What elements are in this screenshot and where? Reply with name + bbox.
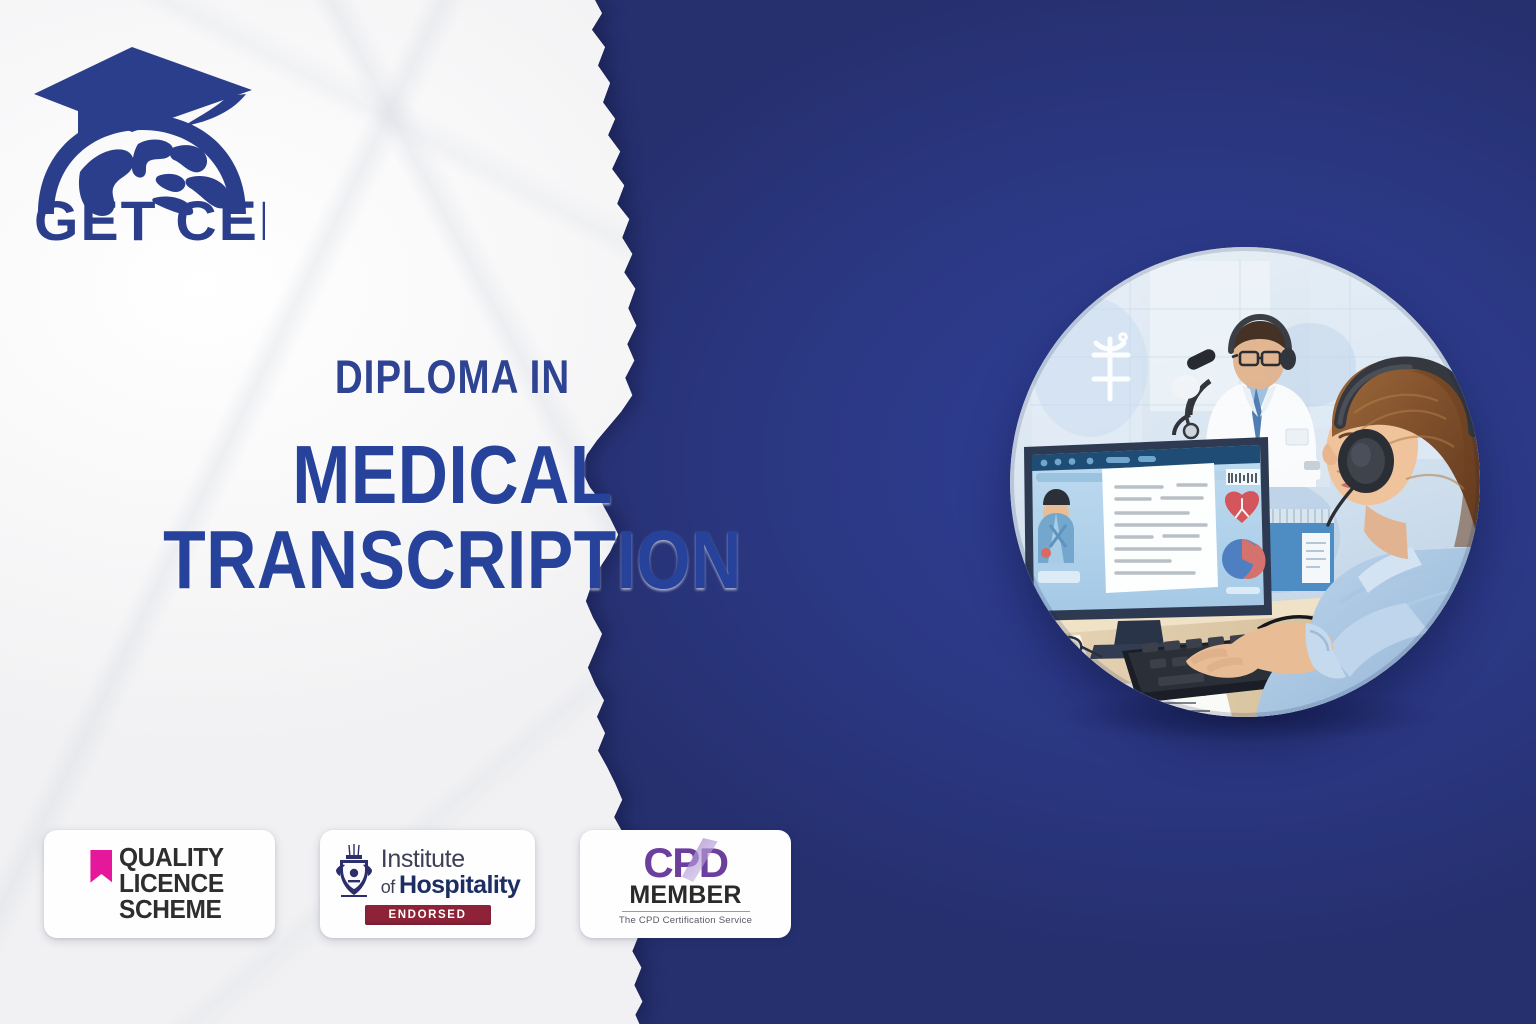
qls-line-1: QUALITY	[119, 845, 224, 871]
qls-line-2: LICENCE	[119, 871, 224, 897]
medical-transcriptionist-illustration	[1010, 247, 1480, 717]
cpd-subtitle: The CPD Certification Service	[619, 915, 752, 927]
badge-quality-licence-scheme[interactable]: QUALITY LICENCE SCHEME	[44, 830, 275, 938]
ioh-line-2-prefix: of	[381, 877, 399, 897]
endorsed-ribbon: ENDORSED	[365, 905, 491, 925]
heraldic-crest-icon	[335, 843, 373, 901]
badge-institute-of-hospitality[interactable]: Institute of Hospitality ENDORSED	[320, 830, 535, 938]
accreditation-badges: QUALITY LICENCE SCHEME	[44, 830, 791, 938]
page-title: MEDICAL TRANSCRIPTION	[72, 433, 832, 602]
get-certify-logo[interactable]: GET CERTIFY	[20, 22, 265, 254]
eyebrow-text: DIPLOMA IN	[81, 352, 823, 401]
cpd-divider	[622, 911, 750, 912]
qls-line-3: SCHEME	[119, 897, 224, 923]
ioh-line-2: Hospitality	[399, 871, 520, 899]
cpd-member-label: MEMBER	[629, 883, 741, 908]
bookmark-flag-icon	[90, 850, 112, 883]
poster-canvas: GET CERTIFY DIPLOMA IN MEDICAL TRANSCRIP…	[0, 0, 1536, 1024]
headline-block: DIPLOMA IN MEDICAL TRANSCRIPTION	[0, 352, 905, 603]
ioh-line-1: Institute	[381, 847, 520, 872]
badge-cpd-member[interactable]: CPD MEMBER The CPD Certification Service	[580, 830, 791, 938]
svg-text:GET CERTIFY: GET CERTIFY	[34, 190, 265, 252]
